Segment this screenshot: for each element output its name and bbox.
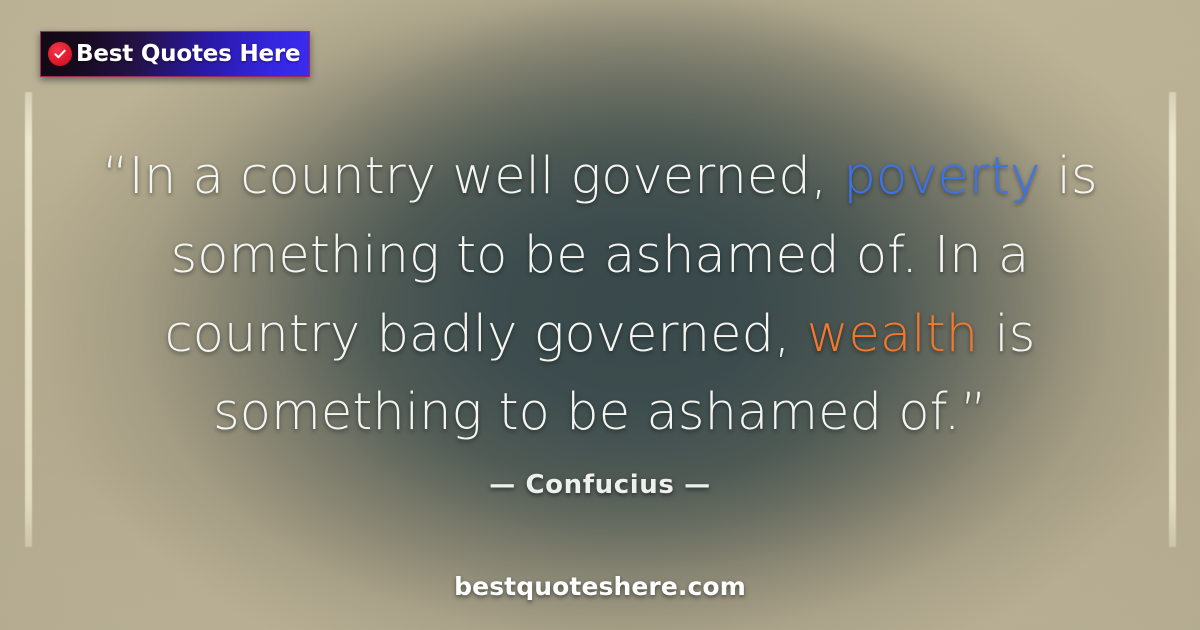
quote-close-mark: ”: [960, 383, 987, 442]
brand-badge-label: Best Quotes Here: [76, 43, 300, 66]
check-circle-icon: [48, 42, 72, 66]
quote-highlight-wealth: wealth: [807, 305, 978, 364]
quote-text: “In a country well governed, poverty is …: [95, 138, 1105, 453]
quote-author: — Confucius —: [0, 470, 1200, 500]
quote-segment-1: In a country well governed,: [129, 147, 844, 206]
brand-badge[interactable]: Best Quotes Here: [40, 31, 310, 77]
quote-card: Best Quotes Here “In a country well gove…: [0, 0, 1200, 630]
quote-block: “In a country well governed, poverty is …: [0, 138, 1200, 453]
quote-highlight-poverty: poverty: [843, 147, 1040, 206]
quote-open-mark: “: [102, 147, 129, 206]
site-url: bestquoteshere.com: [0, 572, 1200, 601]
